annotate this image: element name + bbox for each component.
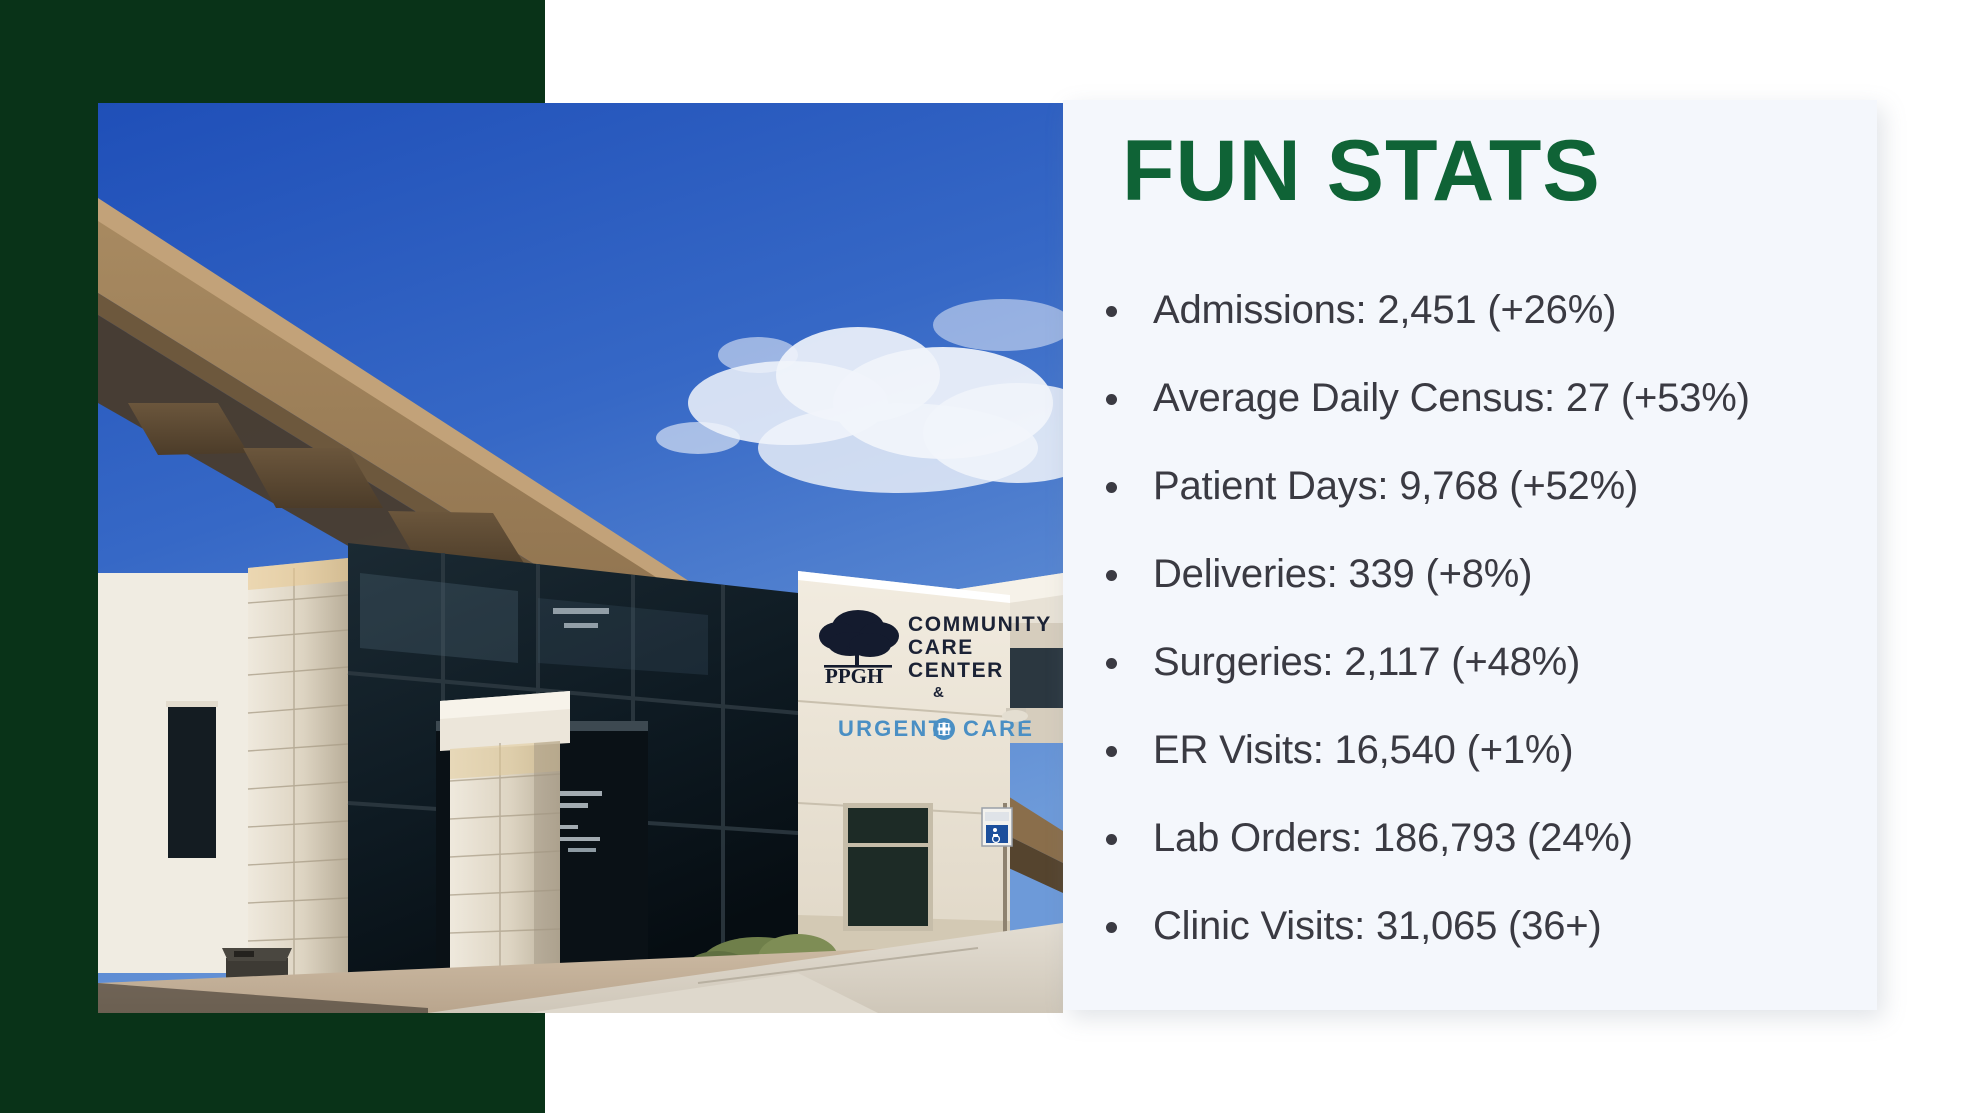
signage-community: COMMUNITY — [908, 613, 1052, 636]
list-item: Patient Days: 9,768 (+52%) — [1099, 466, 1859, 506]
signage-ampersand: & — [933, 684, 944, 701]
stats-list: Admissions: 2,451 (+26%) Average Daily C… — [1099, 290, 1859, 994]
left-stone-pier — [248, 558, 348, 983]
medical-cross-icon — [933, 718, 955, 740]
building-photo: PPGH COMMUNITY CARE CENTER & URGENT CARE — [98, 103, 1063, 1013]
signage-urgent: URGENT — [838, 716, 944, 741]
slide-canvas: PPGH COMMUNITY CARE CENTER & URGENT CARE — [0, 0, 1980, 1113]
bullet-icon — [1106, 306, 1117, 317]
list-item: Average Daily Census: 27 (+53%) — [1099, 378, 1859, 418]
stat-text: Surgeries: 2,117 (+48%) — [1153, 640, 1580, 684]
signage-ppgh: PPGH — [825, 664, 883, 688]
stat-text: Deliveries: 339 (+8%) — [1153, 552, 1532, 596]
list-item: Surgeries: 2,117 (+48%) — [1099, 642, 1859, 682]
stat-text: Average Daily Census: 27 (+53%) — [1153, 376, 1750, 420]
stat-text: Patient Days: 9,768 (+52%) — [1153, 464, 1638, 508]
list-item: Lab Orders: 186,793 (24%) — [1099, 818, 1859, 858]
bullet-icon — [1106, 658, 1117, 669]
bullet-icon — [1106, 834, 1117, 845]
bullet-icon — [1106, 394, 1117, 405]
list-item: Deliveries: 339 (+8%) — [1099, 554, 1859, 594]
bullet-icon — [1106, 746, 1117, 757]
stat-text: Admissions: 2,451 (+26%) — [1153, 288, 1616, 332]
page-title: FUN STATS — [1122, 128, 1601, 214]
list-item: Clinic Visits: 31,065 (36+) — [1099, 906, 1859, 946]
building-photo-illustration: PPGH COMMUNITY CARE CENTER & URGENT CARE — [98, 103, 1063, 1013]
stat-text: ER Visits: 16,540 (+1%) — [1153, 728, 1573, 772]
stat-text: Clinic Visits: 31,065 (36+) — [1153, 904, 1602, 948]
list-item: Admissions: 2,451 (+26%) — [1099, 290, 1859, 330]
signage-center: CENTER — [908, 659, 1004, 682]
bullet-icon — [1106, 570, 1117, 581]
signage-care: CARE — [908, 636, 974, 659]
stats-panel: FUN STATS Admissions: 2,451 (+26%) Avera… — [1063, 100, 1877, 1010]
bullet-icon — [1106, 922, 1117, 933]
list-item: ER Visits: 16,540 (+1%) — [1099, 730, 1859, 770]
stat-text: Lab Orders: 186,793 (24%) — [1153, 816, 1633, 860]
bullet-icon — [1106, 482, 1117, 493]
